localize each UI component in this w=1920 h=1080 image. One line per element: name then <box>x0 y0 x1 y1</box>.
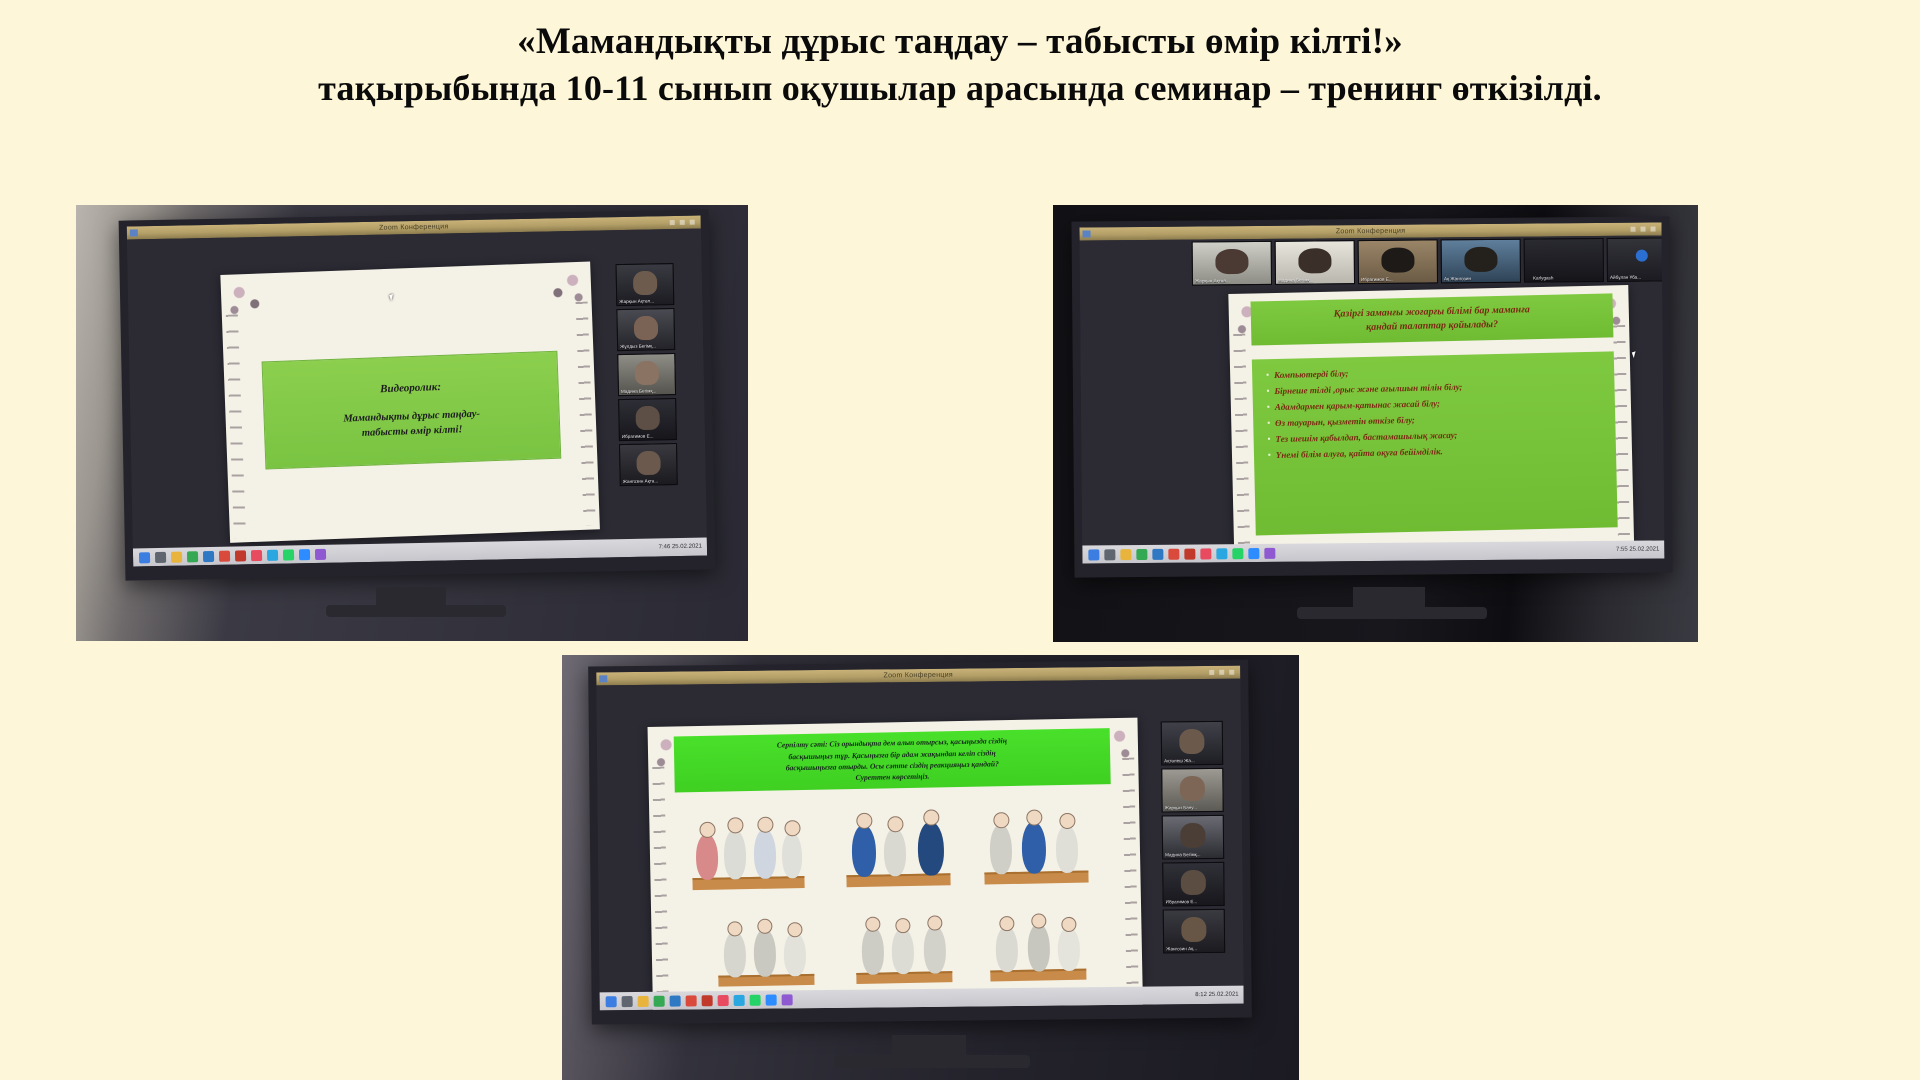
cartoon-person-head <box>887 816 903 832</box>
cartoon-person <box>1057 927 1080 971</box>
opera-icon[interactable] <box>686 995 697 1006</box>
slide-header-box: Серпілту сәті: Сіз орындықта дем алып от… <box>674 728 1111 792</box>
whatsapp-icon[interactable] <box>750 994 761 1005</box>
monitor-screen: Zoom Конференция Серпілту сәті: Сіз орын… <box>596 666 1244 1011</box>
folder-icon[interactable] <box>171 551 182 562</box>
mail-icon[interactable] <box>782 994 793 1005</box>
participant-name: Жарқын Ақтөл... <box>1195 278 1269 284</box>
participant-face <box>1179 729 1204 754</box>
monitor-body: Zoom Конференция Серпілту сәті: Сіз орын… <box>588 660 1252 1025</box>
close-icon[interactable] <box>1229 670 1234 675</box>
zoom-icon[interactable] <box>1248 547 1259 558</box>
slide-left-ornament <box>226 314 246 538</box>
cartoon-person <box>1027 923 1050 971</box>
cartoon-person <box>724 829 747 879</box>
participant-name: Ақтөлеш Жа... <box>1164 758 1220 764</box>
taskbar-clock: 7:55 25.02.2021 <box>1616 546 1659 552</box>
participant-tile[interactable]: Жангозин Ақ... <box>1163 909 1225 954</box>
cartoon-person <box>917 821 944 875</box>
zoom-meeting-body: Видеоролик: Мамандықты дұрыс таңдау- таб… <box>127 229 707 567</box>
participant-face <box>1181 870 1206 895</box>
monitor-screen: Zoom Конференция Жарқын Ақтөл... <box>1080 222 1665 563</box>
monitor-stand-base <box>1297 607 1487 619</box>
start-icon[interactable] <box>606 996 617 1007</box>
cartoon-person <box>723 931 746 977</box>
participant-name: Жангозин Ақта... <box>623 478 675 484</box>
participant-name: Жарқын Ақтөл... <box>619 298 671 304</box>
telegram-icon[interactable] <box>1216 548 1227 559</box>
participant-tile[interactable]: Ақтөлеш Жа... <box>1161 721 1223 766</box>
zoom-window-title: Zoom Конференция <box>1336 228 1406 236</box>
zoom-icon[interactable] <box>766 994 777 1005</box>
cartoon-person <box>995 926 1018 972</box>
participant-face <box>1180 776 1205 801</box>
taskbar-clock: 8:12 25.02.2021 <box>1195 992 1238 998</box>
participant-name: Мадина Бегімқ... <box>1165 852 1221 858</box>
edge-icon[interactable] <box>670 995 681 1006</box>
participant-tile[interactable]: Жарқын Ақтөл... <box>1192 241 1272 286</box>
zoom-meeting-body: Жарқын Ақтөл... Мадина Бегімқ... Ибрагим… <box>1080 235 1665 563</box>
word-icon[interactable] <box>251 550 262 561</box>
windows-taskbar[interactable]: 7:55 25.02.2021 <box>1082 540 1664 563</box>
minimize-icon[interactable] <box>1209 670 1214 675</box>
zoom-icon[interactable] <box>299 549 310 560</box>
cartoon-person-head <box>699 822 715 838</box>
participant-name: Жангозин Ақ... <box>1166 946 1222 952</box>
participant-name: Ибрагимов Е... <box>1166 899 1222 905</box>
participant-face <box>1298 248 1331 273</box>
search-icon[interactable] <box>155 551 166 562</box>
search-icon[interactable] <box>622 996 633 1007</box>
close-icon[interactable] <box>690 220 695 225</box>
participant-name: Мадина Бегімқ... <box>621 388 673 394</box>
start-icon[interactable] <box>1088 549 1099 560</box>
cartoon-person-head <box>784 820 800 836</box>
bullet-marker-icon: ▪ <box>1267 401 1270 414</box>
participant-tile[interactable]: Жұлдыз Бегімқ... <box>616 308 675 351</box>
participant-tile[interactable]: Жарқын Бану... <box>1161 768 1223 813</box>
bullet-marker-icon: ▪ <box>1266 385 1269 398</box>
cartoon-person <box>1021 821 1046 873</box>
chrome-icon[interactable] <box>654 995 665 1006</box>
edge-icon[interactable] <box>1152 548 1163 559</box>
monitor-stand <box>376 587 446 607</box>
participant-tile[interactable]: Жарқын Ақтөл... <box>616 263 675 306</box>
participant-name: Ибрагимов Е... <box>1361 276 1435 282</box>
participant-face <box>635 361 659 385</box>
taskbar-clock: 7:46 25.02.2021 <box>659 544 702 551</box>
monitor-stand <box>1353 587 1425 609</box>
cartoon-person-head <box>1026 809 1042 825</box>
slide-bullet-list: ▪Компьютерді білу; ▪Бірнеше тілді ,орыс … <box>1252 351 1618 535</box>
slide-cartoon-illustration <box>677 792 1115 1006</box>
maximize-icon[interactable] <box>1641 227 1646 232</box>
slide-bullet-text: Бірнеше тілді ,орыс және ағылшын тілін б… <box>1274 381 1462 399</box>
participant-tile[interactable]: Айбұлан Ұба... <box>1607 237 1665 282</box>
slide-bullet-text: Үнемі білім алуға, қайта оқуға бейімділі… <box>1276 445 1443 463</box>
maximize-icon[interactable] <box>1219 670 1224 675</box>
participant-tile[interactable]: Ибрагимов Е... <box>618 398 677 441</box>
cartoon-person <box>923 925 946 973</box>
page-title-line-1: «Мамандықты дұрыс таңдау – табысты өмір … <box>0 18 1920 65</box>
participant-tile[interactable]: Жангозин Ақта... <box>619 443 678 486</box>
opera-icon[interactable] <box>1168 548 1179 559</box>
zoom-window-title: Zoom Конференция <box>883 672 953 680</box>
whatsapp-icon[interactable] <box>283 549 294 560</box>
participant-name: Karlygash <box>1533 275 1601 281</box>
yandex-icon[interactable] <box>702 995 713 1006</box>
cartoon-person <box>753 929 776 977</box>
opera-icon[interactable] <box>219 550 230 561</box>
telegram-icon[interactable] <box>267 549 278 560</box>
slide-green-textbox: Видеоролик: Мамандықты дұрыс таңдау- таб… <box>262 351 562 470</box>
chrome-icon[interactable] <box>187 551 198 562</box>
close-icon[interactable] <box>1651 227 1656 232</box>
participant-tile[interactable]: Мадина Бегімқ... <box>617 353 676 396</box>
slide-left-ornament <box>1233 334 1250 546</box>
mouse-cursor-icon <box>1632 351 1638 358</box>
zoom-app-icon <box>130 229 138 236</box>
whatsapp-icon[interactable] <box>1232 548 1243 559</box>
zoom-settings-icon[interactable] <box>1636 250 1648 262</box>
participant-thumbnail-strip[interactable]: Жарқын Ақтөл... Мадина Бегімқ... Ибрагим… <box>1192 237 1665 285</box>
participant-face <box>636 451 660 475</box>
zoom-app-icon <box>1083 230 1091 237</box>
search-icon[interactable] <box>1104 549 1115 560</box>
slide-left-ornament <box>652 767 669 1011</box>
participant-face <box>1464 247 1497 272</box>
participant-face <box>636 406 660 430</box>
folder-icon[interactable] <box>638 995 649 1006</box>
cartoon-person-head <box>993 812 1009 828</box>
cartoon-person-head <box>757 817 773 833</box>
bullet-marker-icon: ▪ <box>1268 449 1271 462</box>
cartoon-person <box>782 832 803 878</box>
zoom-window-title: Zoom Конференция <box>379 223 449 231</box>
participant-thumbnail-strip[interactable]: Ақтөлеш Жа... Жарқын Бану... Мадина Бегі… <box>1161 721 1225 954</box>
participant-tile[interactable]: Ибрагимов Е... <box>1358 239 1438 284</box>
slide-bullet-text: Адамдармен қарым-қатынас жасай білу; <box>1275 397 1440 415</box>
folder-icon[interactable] <box>1120 549 1131 560</box>
cartoon-person <box>1055 825 1078 873</box>
participant-face <box>634 316 658 340</box>
participant-face <box>1381 248 1414 273</box>
monitor-body: Zoom Конференция Видеоролик: Мамандықты … <box>119 209 716 580</box>
slide-bullet-text: Өз тауарын, қызметін өткізе білу; <box>1275 414 1415 431</box>
photo-zoom-requirements-slide: Zoom Конференция Жарқын Ақтөл... <box>1053 205 1698 642</box>
cartoon-person <box>783 932 806 976</box>
photo-zoom-cartoon-slide: Zoom Конференция Серпілту сәті: Сіз орын… <box>562 655 1299 1080</box>
participant-tile[interactable]: Мадина Бегімқ... <box>1275 240 1355 285</box>
cartoon-person <box>754 829 777 879</box>
monitor-stand-base <box>834 1055 1030 1068</box>
bullet-marker-icon: ▪ <box>1267 433 1270 446</box>
yandex-icon[interactable] <box>1184 548 1195 559</box>
slide-right-ornament <box>1122 758 1139 1004</box>
participant-tile[interactable]: Ибрагимов Е... <box>1162 862 1224 907</box>
word-icon[interactable] <box>718 995 729 1006</box>
maximize-icon[interactable] <box>680 220 685 225</box>
cartoon-person <box>884 828 907 876</box>
participant-name: Ибрагимов Е... <box>622 433 674 439</box>
cartoon-person <box>851 825 876 877</box>
participant-name: Ақ Жангозин <box>1444 276 1518 282</box>
slide-right-ornament <box>576 302 596 526</box>
monitor-screen: Zoom Конференция Видеоролик: Мамандықты … <box>127 216 707 567</box>
zoom-app-icon <box>599 675 607 682</box>
edge-icon[interactable] <box>203 550 214 561</box>
participant-name: Мадина Бегімқ... <box>1278 277 1352 283</box>
cartoon-person-head <box>727 817 743 833</box>
page-title: «Мамандықты дұрыс таңдау – табысты өмір … <box>0 18 1920 111</box>
participant-name: Жарқын Бану... <box>1165 805 1221 811</box>
slide-text-line-1: Видеоролик: <box>263 376 557 403</box>
cartoon-person <box>861 926 884 974</box>
shared-slide: Серпілту сәті: Сіз орындықта дем алып от… <box>648 718 1143 1011</box>
participant-tile[interactable]: Мадина Бегімқ... <box>1162 815 1224 860</box>
monitor-stand-base <box>326 605 506 617</box>
mail-icon[interactable] <box>1264 547 1275 558</box>
cartoon-person <box>891 928 914 974</box>
participant-face <box>1215 249 1248 274</box>
yandex-icon[interactable] <box>235 550 246 561</box>
slide-bullet-text: Тез шешім қабылдап, бастамашылық жасау; <box>1275 429 1457 447</box>
mail-icon[interactable] <box>315 548 326 559</box>
minimize-icon[interactable] <box>1631 227 1636 232</box>
participant-tile[interactable]: Karlygash <box>1524 238 1604 283</box>
participant-name: Жұлдыз Бегімқ... <box>620 343 672 349</box>
participant-face <box>1181 917 1206 942</box>
participant-face <box>633 271 657 295</box>
participant-name: Айбұлан Ұба... <box>1610 274 1664 280</box>
monitor-body: Zoom Конференция Жарқын Ақтөл... <box>1071 216 1672 577</box>
participant-face <box>1180 823 1205 848</box>
slide-header-box: Қазіргі заманғы жоғарғы білімі бар маман… <box>1251 293 1614 345</box>
shared-slide: Қазіргі заманғы жоғарғы білімі бар маман… <box>1228 285 1634 550</box>
cartoon-person <box>696 834 719 880</box>
telegram-icon[interactable] <box>734 994 745 1005</box>
page-title-line-2: тақырыбында 10-11 сынып оқушылар арасынд… <box>0 65 1920 111</box>
photo-zoom-video-slide: Zoom Конференция Видеоролик: Мамандықты … <box>76 205 748 641</box>
minimize-icon[interactable] <box>670 220 675 225</box>
zoom-meeting-body: Серпілту сәті: Сіз орындықта дем алып от… <box>596 679 1243 1011</box>
participant-thumbnail-strip[interactable]: Жарқын Ақтөл... Жұлдыз Бегімқ... Мадина … <box>616 263 678 486</box>
slide-bullet-text: Компьютерді білу; <box>1274 367 1349 383</box>
participant-tile[interactable]: Ақ Жангозин <box>1441 239 1521 284</box>
cartoon-person-head <box>1059 813 1075 829</box>
word-icon[interactable] <box>1200 548 1211 559</box>
cartoon-person <box>989 824 1012 874</box>
shared-slide: Видеоролик: Мамандықты дұрыс таңдау- таб… <box>220 261 600 542</box>
chrome-icon[interactable] <box>1136 548 1147 559</box>
monitor-stand <box>892 1035 966 1057</box>
start-icon[interactable] <box>139 552 150 563</box>
cartoon-person-head <box>923 809 939 825</box>
cartoon-person-head <box>856 813 872 829</box>
bullet-marker-icon: ▪ <box>1266 369 1269 382</box>
bullet-marker-icon: ▪ <box>1267 417 1270 430</box>
